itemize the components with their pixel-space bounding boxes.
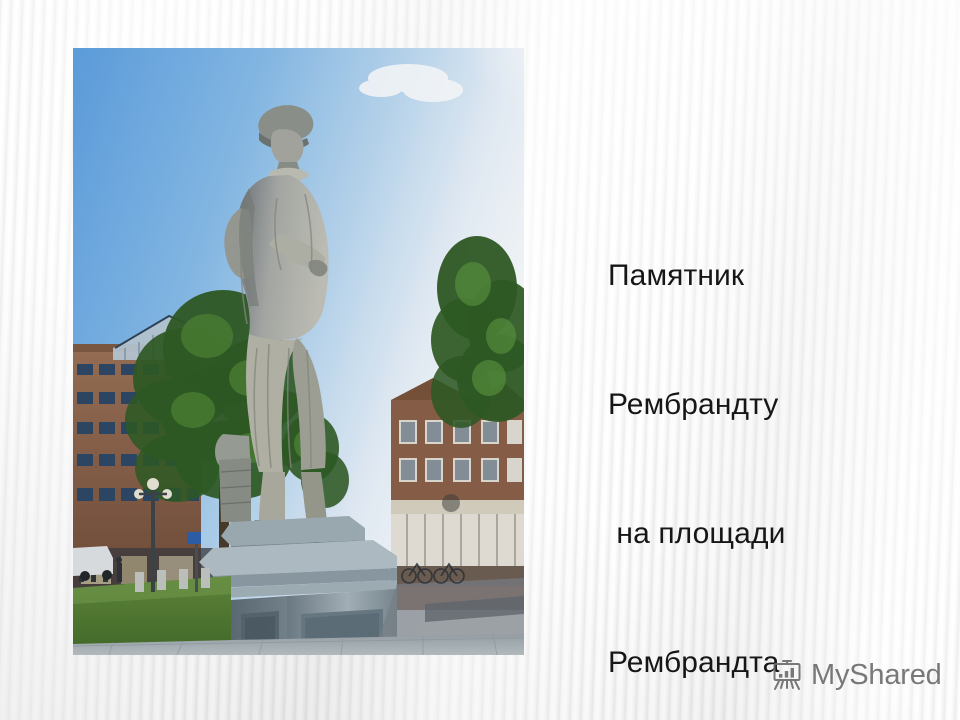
caption-line-1: Памятник bbox=[608, 254, 938, 297]
myshared-label: MyShared bbox=[811, 661, 942, 690]
caption-line-3: на площади bbox=[608, 512, 938, 555]
caption-line-2: Рембрандту bbox=[608, 383, 938, 426]
slide-caption: Памятник Рембрандту на площади Рембрандт… bbox=[608, 168, 938, 720]
presentation-chart-icon bbox=[770, 658, 804, 692]
statue-photo: Rembrandt bbox=[73, 48, 524, 655]
myshared-watermark[interactable]: MyShared bbox=[770, 658, 942, 692]
slide: Rembrandt bbox=[0, 0, 960, 720]
